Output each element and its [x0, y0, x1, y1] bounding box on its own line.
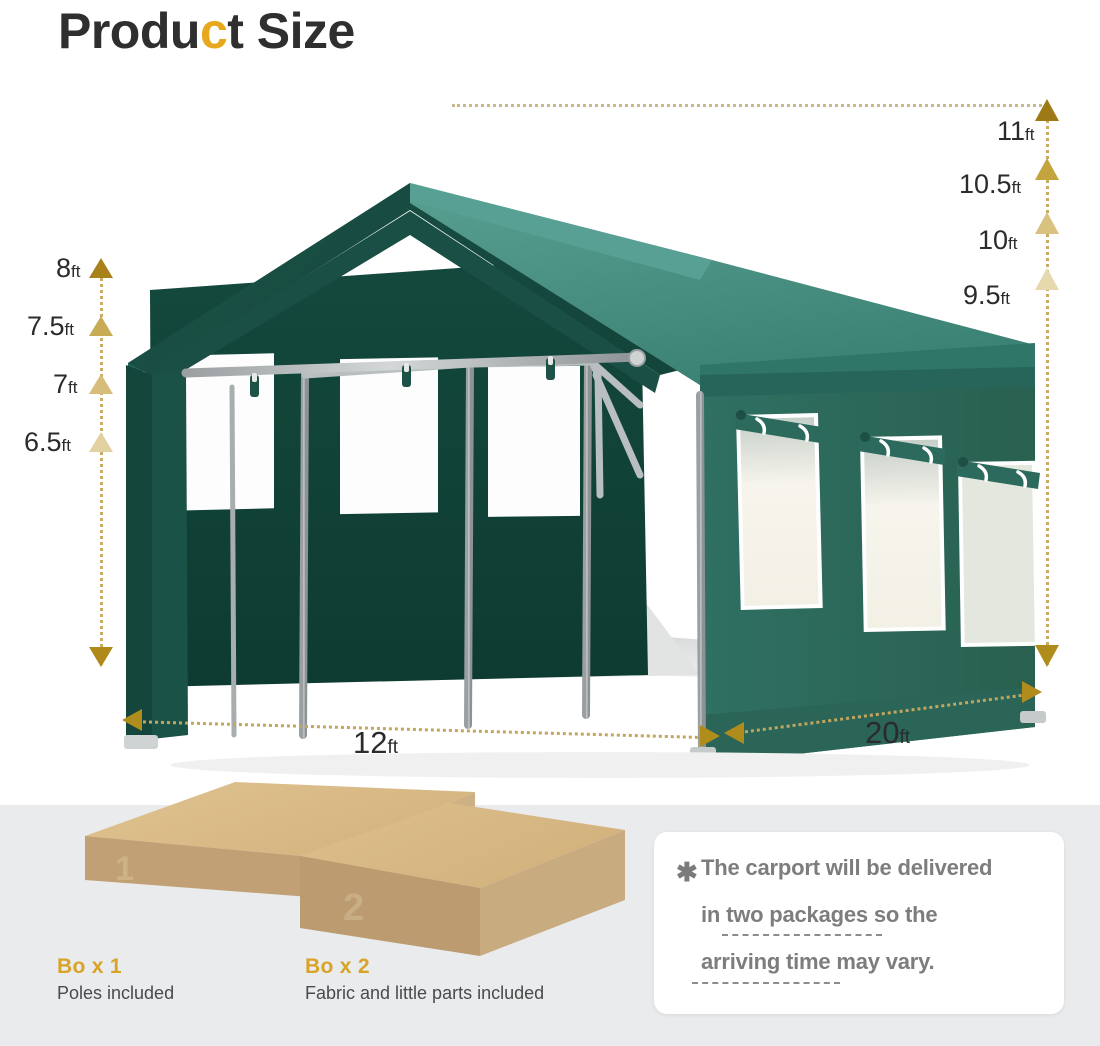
right-dimension-line	[1046, 107, 1049, 665]
right-label-9-5ft: 9.5ft	[963, 280, 1010, 311]
left-arrow-7ft	[89, 374, 113, 394]
right-label-10ft: 10ft	[978, 225, 1018, 256]
left-label-7ft: 7ft	[53, 369, 77, 400]
left-arrow-7-5ft	[89, 316, 113, 336]
left-label-8ft: 8ft	[56, 253, 80, 284]
box-2-number: 2	[343, 887, 364, 929]
left-arrow-8ft	[89, 258, 113, 278]
left-label-7-5ft: 7.5ft	[27, 311, 74, 342]
right-label-11ft: 11ft	[997, 116, 1034, 147]
box-1-number: 1	[115, 850, 134, 888]
box-1-title: Bo x 1	[57, 955, 174, 979]
note-underline-2	[692, 982, 840, 984]
note-line-1: The carport will be delivered	[701, 855, 992, 881]
width-label-12ft: 12ft	[353, 725, 398, 761]
right-arrow-10-5ft	[1035, 158, 1059, 180]
roof-peak-guide-line	[452, 104, 1047, 107]
note-line-3: arriving time may vary.	[701, 949, 934, 975]
packaging-panel: 1 2 Bo x 1 Poles included Bo x 2 Fabric …	[0, 805, 1100, 1046]
page-title: Product Size	[58, 2, 355, 60]
box-1-caption: Bo x 1 Poles included	[57, 955, 174, 1004]
right-arrow-10ft	[1035, 212, 1059, 234]
box-2-subtitle: Fabric and little parts included	[305, 983, 544, 1004]
width-arrow-right	[700, 725, 720, 747]
width-arrow-left	[122, 709, 142, 731]
right-arrow-11ft	[1035, 99, 1059, 121]
length-arrow-right	[1022, 681, 1042, 703]
right-label-10-5ft: 10.5ft	[959, 169, 1021, 200]
title-part-after: t Size	[227, 3, 355, 59]
length-label-20ft: 20ft	[865, 715, 910, 751]
asterisk-icon: ✱	[676, 859, 698, 885]
title-part-before: Produ	[58, 3, 200, 59]
note-underline-1	[722, 934, 882, 936]
title-accent-letter: c	[200, 3, 227, 59]
left-arrow-6-5ft	[89, 432, 113, 452]
left-label-6-5ft: 6.5ft	[24, 427, 71, 458]
right-arrow-9-5ft	[1035, 268, 1059, 290]
right-arrow-bottom	[1035, 645, 1059, 667]
box-2-title: Bo x 2	[305, 955, 544, 979]
box-1-subtitle: Poles included	[57, 983, 174, 1004]
product-illustration: 8ft 7.5ft 7ft 6.5ft 11ft 10.5ft 10ft 9.5…	[0, 75, 1100, 805]
note-line-2: in two packages so the	[701, 902, 937, 928]
box-2-caption: Bo x 2 Fabric and little parts included	[305, 955, 544, 1004]
carport-graphic	[0, 75, 1100, 805]
delivery-note-card: ✱ The carport will be delivered in two p…	[654, 832, 1064, 1014]
left-arrow-bottom	[89, 647, 113, 667]
length-arrow-left	[724, 722, 744, 744]
